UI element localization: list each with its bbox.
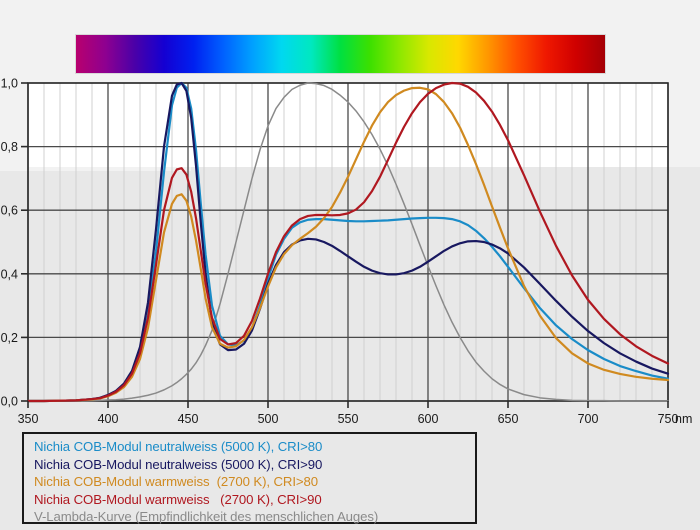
legend-label-3: Nichia COB-Modul warmweiss (2700 K), CRI… — [34, 492, 322, 507]
y-tick-label: 0,4 — [1, 267, 18, 281]
y-tick-label: 0,6 — [1, 204, 18, 218]
x-tick-label: 400 — [98, 412, 119, 426]
y-tick-label: 0,8 — [1, 140, 18, 154]
legend: Nichia COB-Modul neutralweiss (5000 K), … — [22, 432, 477, 524]
x-tick-label: 700 — [578, 412, 599, 426]
x-tick-label: 650 — [498, 412, 519, 426]
legend-item-4: V-Lambda-Kurve (Empfindlichkeit des mens… — [34, 508, 467, 526]
legend-label-0: Nichia COB-Modul neutralweiss (5000 K), … — [34, 439, 322, 454]
y-tick-label: 0,0 — [1, 395, 18, 409]
legend-label-2: Nichia COB-Modul warmweiss (2700 K), CRI… — [34, 474, 318, 489]
y-tick-label: 1,0 — [1, 77, 18, 91]
x-tick-label: 550 — [338, 412, 359, 426]
x-tick-label: 500 — [258, 412, 279, 426]
y-tick-label: 0,2 — [1, 331, 18, 345]
x-tick-label: 450 — [178, 412, 199, 426]
legend-item-0: Nichia COB-Modul neutralweiss (5000 K), … — [34, 438, 467, 456]
legend-item-2: Nichia COB-Modul warmweiss (2700 K), CRI… — [34, 473, 467, 491]
x-tick-label: 600 — [418, 412, 439, 426]
x-axis-unit-label: nm — [675, 412, 692, 426]
legend-item-1: Nichia COB-Modul neutralweiss (5000 K), … — [34, 456, 467, 474]
legend-item-3: Nichia COB-Modul warmweiss (2700 K), CRI… — [34, 491, 467, 509]
legend-label-1: Nichia COB-Modul neutralweiss (5000 K), … — [34, 457, 322, 472]
chart-page: 0,00,20,40,60,81,03504004505005506006507… — [0, 0, 700, 530]
x-tick-label: 350 — [18, 412, 39, 426]
legend-label-4: V-Lambda-Kurve (Empfindlichkeit des mens… — [34, 509, 378, 524]
